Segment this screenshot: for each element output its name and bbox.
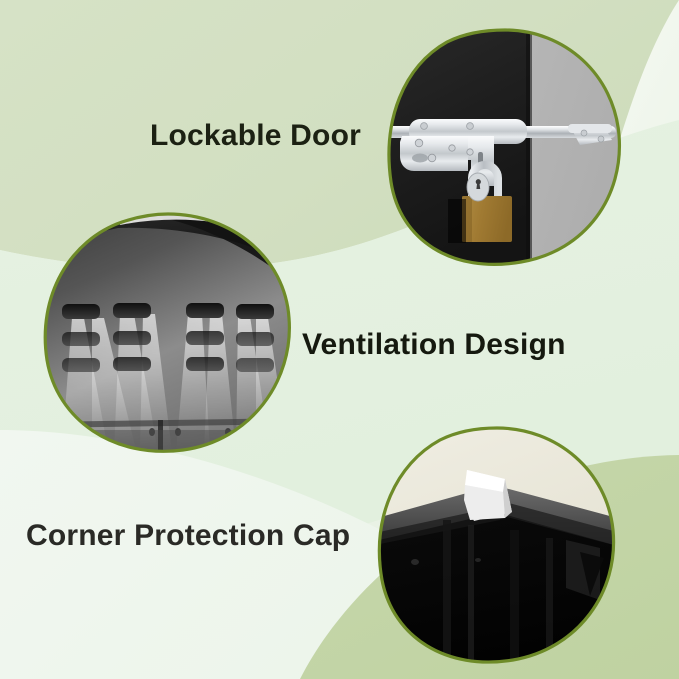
feature-label-corner-protection-cap: Corner Protection Cap — [26, 521, 350, 551]
feature-bubble-ventilation-design — [40, 205, 300, 460]
product-feature-infographic: Lockable Door Ventilation Design Corner … — [0, 0, 679, 679]
feature-bubble-corner-protection-cap — [370, 420, 625, 670]
feature-bubble-lockable-door — [380, 20, 630, 275]
feature-label-lockable-door: Lockable Door — [150, 121, 361, 151]
feature-label-ventilation-design: Ventilation Design — [302, 330, 566, 360]
